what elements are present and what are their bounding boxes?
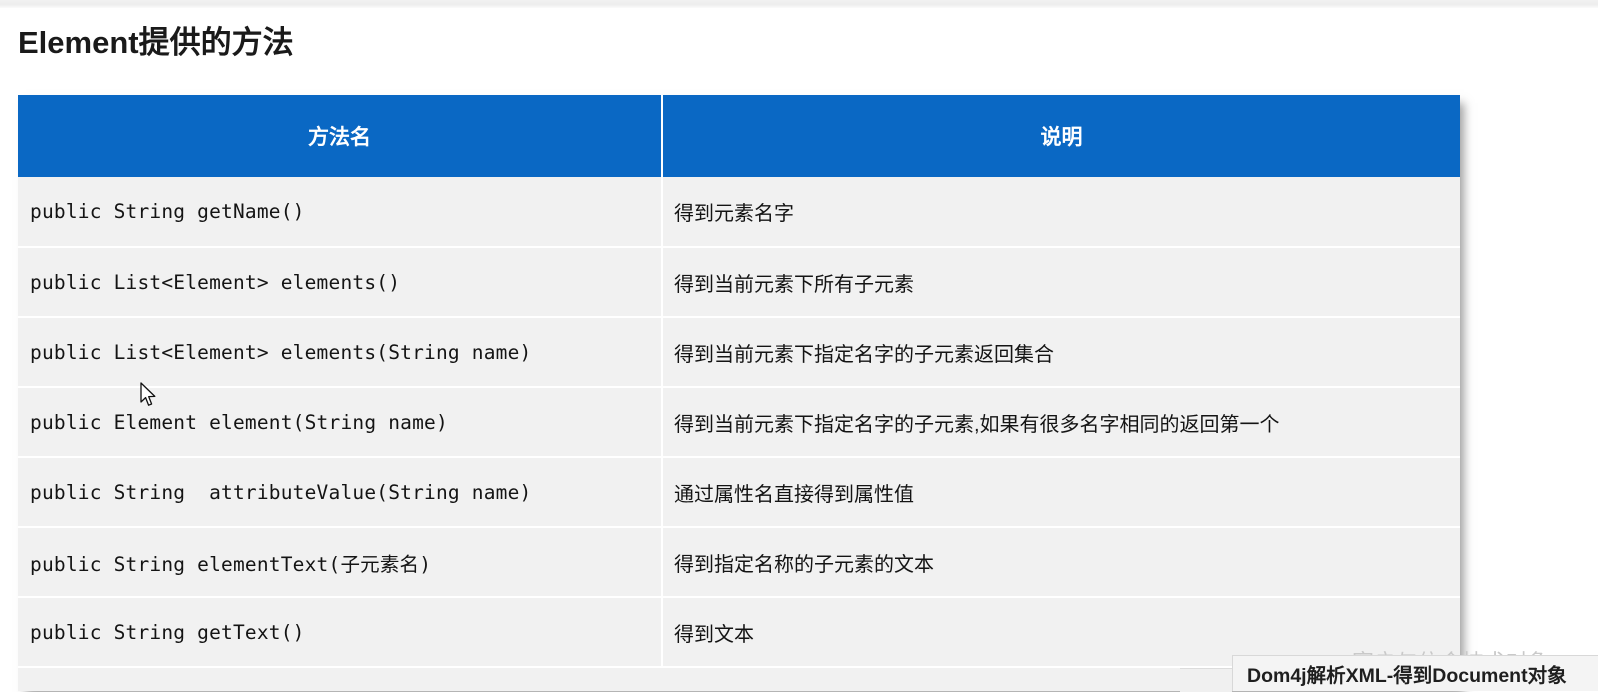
cell-description: 得到元素名字: [662, 177, 1460, 247]
table-row: public List<Element> elements()得到当前元素下所有…: [18, 247, 1460, 317]
table-row: public List<Element> elements(String nam…: [18, 317, 1460, 387]
caption-label: Dom4j解析XML-得到Document对象: [1233, 659, 1567, 688]
cell-description: 得到当前元素下指定名字的子元素返回集合: [662, 317, 1460, 387]
method-table: 方法名 说明 public String getName()得到元素名字publ…: [18, 95, 1460, 668]
column-header-method: 方法名: [18, 95, 662, 177]
table-row: public String elementText(子元素名)得到指定名称的子元…: [18, 527, 1460, 597]
table-header-row: 方法名 说明: [18, 95, 1460, 177]
cell-method: public Element element(String name): [18, 387, 662, 457]
table-header: 方法名 说明: [18, 95, 1460, 177]
cell-description: 通过属性名直接得到属性值: [662, 457, 1460, 527]
cell-description: 得到指定名称的子元素的文本: [662, 527, 1460, 597]
page-title: Element提供的方法: [18, 17, 294, 62]
cell-method: public String getText(): [18, 597, 662, 667]
cell-description: 得到当前元素下所有子元素: [662, 247, 1460, 317]
cell-method: public String getName(): [18, 177, 662, 247]
cell-method: public String elementText(子元素名): [18, 527, 662, 597]
caption-plate: Dom4j解析XML-得到Document对象: [1232, 655, 1598, 691]
table-row: public Element element(String name)得到当前元…: [18, 387, 1460, 457]
table-body: public String getName()得到元素名字public List…: [18, 177, 1460, 667]
cell-method: public List<Element> elements(String nam…: [18, 317, 662, 387]
column-header-description: 说明: [662, 95, 1460, 177]
table-row: public String attributeValue(String name…: [18, 457, 1460, 527]
table-row: public String getName()得到元素名字: [18, 177, 1460, 247]
top-edge-band: [0, 0, 1598, 8]
caption-shoulder: [1180, 668, 1232, 692]
method-table-container: 方法名 说明 public String getName()得到元素名字publ…: [18, 95, 1460, 691]
cell-method: public String attributeValue(String name…: [18, 457, 662, 527]
cell-description: 得到当前元素下指定名字的子元素,如果有很多名字相同的返回第一个: [662, 387, 1460, 457]
cell-method: public List<Element> elements(): [18, 247, 662, 317]
